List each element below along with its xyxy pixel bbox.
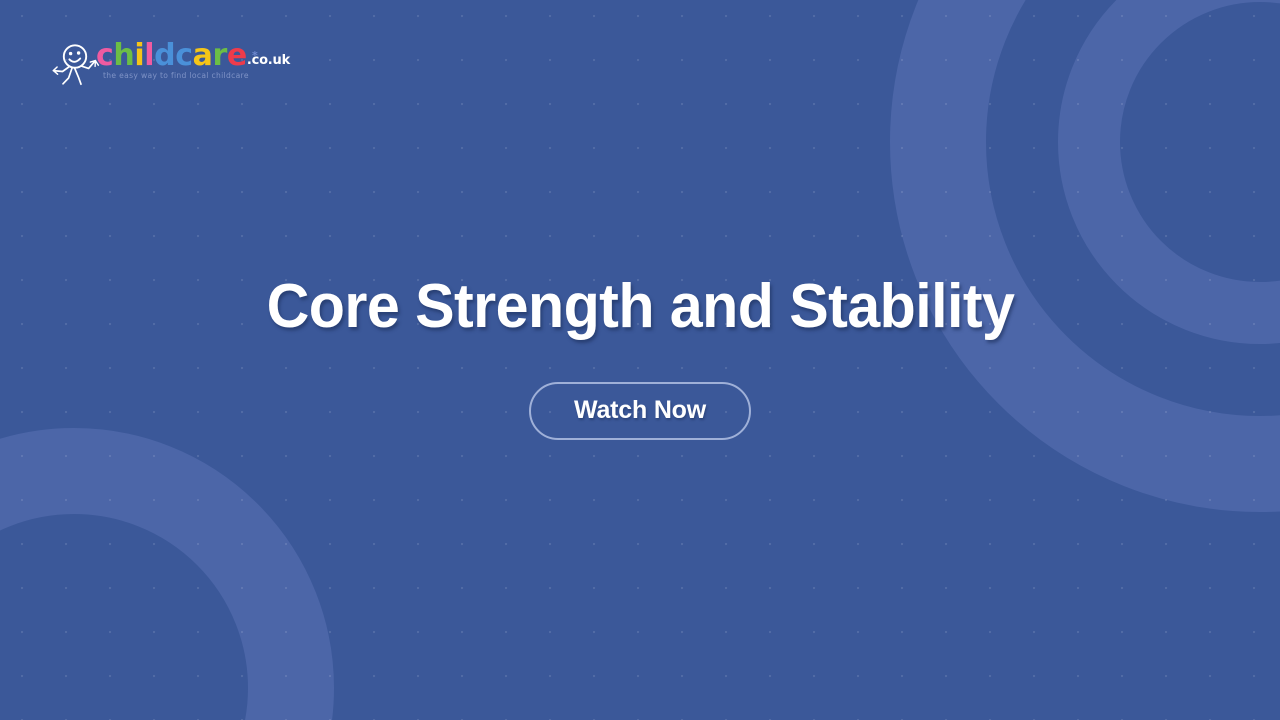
page-title: Core Strength and Stability xyxy=(266,274,1014,339)
registered-mark-icon: * xyxy=(252,40,257,72)
site-logo[interactable]: childcare.co.uk * the easy way to find l… xyxy=(50,40,250,88)
logo-letter-c1: c xyxy=(96,40,113,72)
logo-letter-i: i xyxy=(134,40,144,72)
logo-letter-h: h xyxy=(113,40,134,72)
logo-letter-r: r xyxy=(212,40,226,72)
logo-letter-e: e xyxy=(227,40,247,72)
hero-section: Core Strength and Stability Watch Now xyxy=(0,0,1280,720)
logo-letter-a: a xyxy=(193,40,213,72)
logo-letter-d: d xyxy=(154,40,175,72)
logo-tagline: the easy way to find local childcare xyxy=(103,71,249,80)
smiling-stick-figure-icon xyxy=(50,42,102,86)
watch-now-button[interactable]: Watch Now xyxy=(529,382,751,440)
logo-letter-c2: c xyxy=(175,40,192,72)
logo-letter-l: l xyxy=(144,40,154,72)
